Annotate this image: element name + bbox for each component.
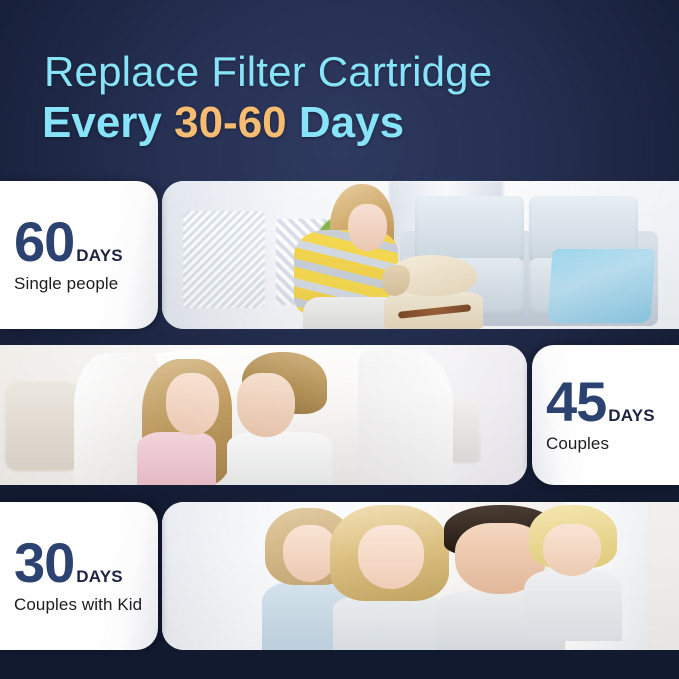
- card-subtitle: Single people: [14, 274, 148, 294]
- woman-face: [166, 373, 219, 435]
- card-number-row: 45 DAYS: [546, 376, 667, 428]
- card-days-label: DAYS: [76, 568, 122, 589]
- scene-lamp: [183, 211, 266, 309]
- card-info-inner: 30 DAYS Couples with Kid: [0, 537, 158, 615]
- card-subtitle: Couples: [546, 434, 667, 454]
- card-photo-couples-with-kid: [162, 502, 679, 650]
- card-row-45-days: 45 DAYS Couples: [0, 345, 679, 485]
- headline-primary: Replace Filter Cartridge: [44, 48, 492, 96]
- headline-secondary-accent: 30-60: [174, 98, 287, 147]
- card-photo-single-people: [162, 181, 679, 329]
- photo-scene-family: [162, 502, 679, 650]
- card-number: 30: [14, 537, 74, 589]
- card-info-single-people: 60 DAYS Single people: [0, 181, 158, 329]
- card-number: 60: [14, 216, 74, 268]
- scene-cushion: [415, 196, 524, 264]
- card-subtitle: Couples with Kid: [14, 595, 148, 615]
- scene-duvet-right-fold: [358, 351, 453, 485]
- card-number-row: 60 DAYS: [14, 216, 148, 268]
- scene-pillow: [5, 381, 79, 471]
- mother-body: [333, 595, 447, 650]
- family-mother: [333, 505, 447, 650]
- son-body: [524, 570, 622, 641]
- woman-pink-top: [137, 432, 216, 485]
- card-info-couples: 45 DAYS Couples: [532, 345, 679, 485]
- family-son: [529, 505, 617, 641]
- card-number: 45: [546, 376, 606, 428]
- infographic-canvas: Replace Filter Cartridge Every 30-60 Day…: [0, 0, 679, 679]
- card-days-label: DAYS: [608, 407, 654, 428]
- headline-secondary-suffix: Days: [287, 98, 404, 147]
- card-info-inner: 45 DAYS Couples: [532, 376, 679, 454]
- son-face: [543, 524, 601, 576]
- daughter-face: [283, 525, 337, 582]
- headline-secondary: Every 30-60 Days: [42, 98, 404, 148]
- photo-scene-woman-with-dog: [162, 181, 679, 329]
- scene-blue-blanket: [547, 249, 656, 323]
- scene-dog: [384, 255, 482, 329]
- man-face: [237, 373, 295, 437]
- man-white-shirt: [227, 432, 332, 485]
- card-photo-couples: [0, 345, 527, 485]
- headline-secondary-prefix: Every: [42, 98, 174, 147]
- card-row-60-days: 60 DAYS Single people: [0, 181, 679, 329]
- card-days-label: DAYS: [76, 247, 122, 268]
- card-info-inner: 60 DAYS Single people: [0, 216, 158, 294]
- header-banner: Replace Filter Cartridge Every 30-60 Day…: [0, 0, 679, 180]
- card-info-couples-with-kid: 30 DAYS Couples with Kid: [0, 502, 158, 650]
- photo-scene-couple-in-bed: [0, 345, 527, 485]
- woman-face: [348, 204, 387, 250]
- card-number-row: 30 DAYS: [14, 537, 148, 589]
- mother-face: [358, 525, 424, 589]
- card-row-30-days: 30 DAYS Couples with Kid: [0, 502, 679, 650]
